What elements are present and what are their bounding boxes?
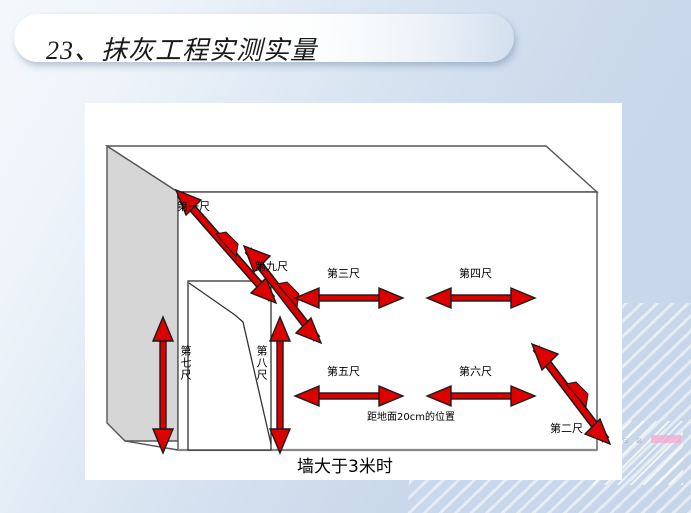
left-side-wall xyxy=(107,146,178,441)
label-chi-5: 第五尺 xyxy=(327,366,360,377)
slide-canvas: ∥ ⊟ ⊠ 23、抹灰工程实测实量 xyxy=(0,0,691,513)
ceiling-plane xyxy=(107,146,597,192)
label-chi-8: 第八尺 xyxy=(256,345,267,381)
label-chi-1: 第一尺 xyxy=(177,201,210,212)
diagram-caption: 墙大于3米时 xyxy=(297,452,393,477)
floor-distance-note: 距地面20cm的位置 xyxy=(367,408,455,423)
wall-diagram xyxy=(85,103,622,480)
label-chi-9: 第九尺 xyxy=(255,261,288,272)
label-chi-6: 第六尺 xyxy=(459,366,492,377)
label-chi-3: 第三尺 xyxy=(327,268,360,279)
label-chi-2: 第二尺 xyxy=(550,423,583,434)
title-banner: 23、抹灰工程实测实量 xyxy=(14,14,514,62)
decorative-pink-bar xyxy=(651,435,681,443)
label-chi-4: 第四尺 xyxy=(459,268,492,279)
diagram-panel: 第一尺 第九尺 第三尺 第四尺 第五尺 第六尺 第七尺 第八尺 第二尺 距地面2… xyxy=(85,103,622,480)
page-title: 23、抹灰工程实测实量 xyxy=(46,30,317,67)
label-chi-7: 第七尺 xyxy=(180,345,191,381)
